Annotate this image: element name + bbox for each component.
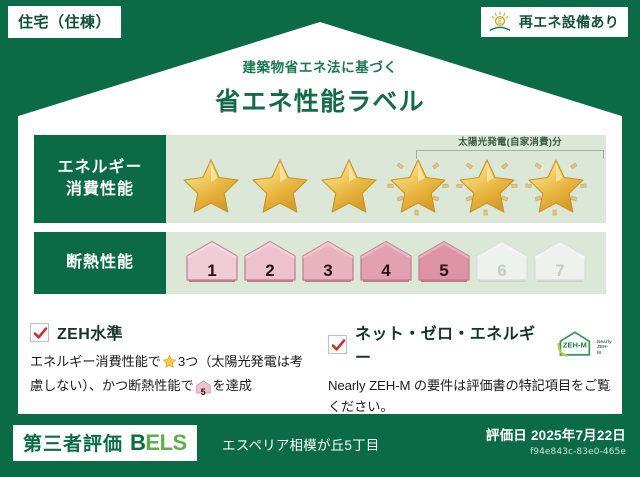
energy-performance-label: エネルギー 消費性能 xyxy=(34,135,166,223)
svg-text:ZEH-M: ZEH-M xyxy=(563,341,587,350)
insulation-level-number: 5 xyxy=(417,261,471,281)
criterion-body: エネルギー消費性能で3つ（太陽光発電は考慮しない）、かつ断熱性能で5を達成 xyxy=(30,351,314,401)
insulation-level-number: 3 xyxy=(301,261,355,281)
criterion-zeh-standard: ZEH水準 エネルギー消費性能で3つ（太陽光発電は考慮しない）、かつ断熱性能で5… xyxy=(30,320,314,418)
criterion-body-pre: エネルギー消費性能で xyxy=(30,354,161,369)
checkbox-checked-icon xyxy=(328,335,347,354)
insulation-level-active: 2 xyxy=(243,240,297,286)
energy-rating-panel: 太陽光発電(自家消費)分 xyxy=(166,135,606,223)
criterion-header: ZEH水準 xyxy=(30,320,314,344)
footer-bar: 第三者評価 BELS エスペリア相模が丘5丁目 評価日 2025年7月22日 f… xyxy=(0,415,640,477)
renewable-energy-badge: 再エネ設備あり xyxy=(481,7,628,37)
bels-en-part2: ELS xyxy=(145,430,186,455)
star-rating xyxy=(166,135,606,223)
bels-jp-label: 第三者評価 xyxy=(23,429,123,456)
bels-certification-mark: 第三者評価 BELS xyxy=(13,425,197,461)
star-filled xyxy=(178,154,244,218)
insulation-level-number: 2 xyxy=(243,261,297,281)
insulation-level-number: 7 xyxy=(533,261,587,281)
star-filled xyxy=(316,154,382,218)
checkbox-checked-icon xyxy=(30,323,49,342)
star-solar xyxy=(454,154,520,218)
page-title: 省エネ性能ラベル xyxy=(0,82,640,118)
insulation-performance-label: 断熱性能 xyxy=(34,232,166,294)
inline-house-number: 5 xyxy=(196,385,211,400)
metrics-section: エネルギー 消費性能 太陽光発電(自家消費)分 xyxy=(34,135,606,294)
insulation-level-active: 3 xyxy=(301,240,355,286)
energy-label-card: 住宅（住棟） 再エネ設備あり 建築物省エネ法に基づく 省エネ性能ラベル xyxy=(0,0,640,477)
bels-en-part1: B xyxy=(130,430,145,455)
criterion-title: ZEH水準 xyxy=(57,320,123,344)
zeh-m-sub-line2: ZEH-M xyxy=(597,344,612,355)
inline-house-badge: 5 xyxy=(196,379,211,400)
criterion-header: ネット・ゼロ・エネルギー ZEH-M Nearly ZEH-M xyxy=(328,320,612,368)
star-solar xyxy=(385,154,451,218)
title-subtitle: 建築物省エネ法に基づく xyxy=(0,56,640,76)
bels-en-label: BELS xyxy=(130,430,187,456)
criterion-body-post: を達成 xyxy=(213,378,252,393)
label-title-block: 建築物省エネ法に基づく 省エネ性能ラベル xyxy=(0,56,640,118)
star-filled xyxy=(247,154,313,218)
insulation-level-inactive: 6 xyxy=(475,240,529,286)
energy-label-line1: エネルギー xyxy=(57,157,142,179)
evaluation-date-value: 2025年7月22日 xyxy=(531,428,626,443)
insulation-level-active: 5 xyxy=(417,240,471,286)
evaluation-date-label: 評価日 xyxy=(486,428,527,443)
sun-icon xyxy=(487,11,513,33)
insulation-level-number: 4 xyxy=(359,261,413,281)
insulation-level-scale: 1 2 3 4 5 xyxy=(166,232,606,294)
evaluation-info: 評価日 2025年7月22日 f94e843c-83e0-465e xyxy=(486,424,626,457)
insulation-level-inactive: 7 xyxy=(533,240,587,286)
insulation-rating-panel: 1 2 3 4 5 xyxy=(166,232,606,294)
insulation-level-number: 1 xyxy=(185,261,239,281)
building-name: エスペリア相模が丘5丁目 xyxy=(222,434,379,454)
criterion-net-zero-energy: ネット・ゼロ・エネルギー ZEH-M Nearly ZEH-M Nearly Z… xyxy=(328,320,612,418)
insulation-level-active: 4 xyxy=(359,240,413,286)
evaluation-id: f94e843c-83e0-465e xyxy=(486,447,626,457)
renewable-badge-label: 再エネ設備あり xyxy=(519,12,619,32)
evaluation-date: 評価日 2025年7月22日 xyxy=(486,424,626,444)
criterion-title: ネット・ゼロ・エネルギー xyxy=(355,320,547,368)
star-solar xyxy=(523,154,589,218)
zeh-m-logo-sublabel: Nearly ZEH-M xyxy=(597,339,612,359)
inline-star-icon xyxy=(162,354,177,375)
zeh-m-logo: ZEH-M Nearly ZEH-M xyxy=(555,329,612,359)
insulation-level-active: 1 xyxy=(185,240,239,286)
energy-label-line2: 消費性能 xyxy=(66,179,134,201)
building-type-tag: 住宅（住棟） xyxy=(8,6,121,38)
criterion-body: Nearly ZEH-M の要件は評価書の特記項目をご覧ください。 xyxy=(328,375,612,418)
criteria-section: ZEH水準 エネルギー消費性能で3つ（太陽光発電は考慮しない）、かつ断熱性能で5… xyxy=(30,320,612,418)
insulation-level-number: 6 xyxy=(475,261,529,281)
energy-performance-row: エネルギー 消費性能 太陽光発電(自家消費)分 xyxy=(34,135,606,223)
insulation-label-full: 断熱性能 xyxy=(66,252,134,274)
insulation-performance-row: 断熱性能 1 2 3 4 xyxy=(34,232,606,294)
